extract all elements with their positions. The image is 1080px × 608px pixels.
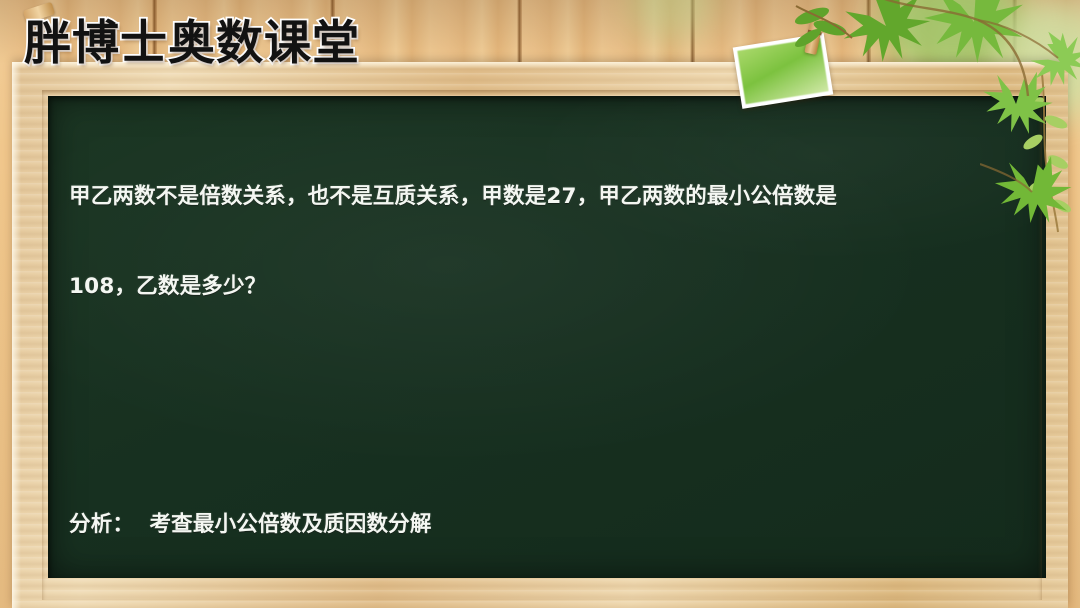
problem-line-2: 108，乙数是多少？	[69, 272, 1016, 302]
analysis-line-1: 分析： 考查最小公倍数及质因数分解	[69, 510, 1016, 540]
problem-line-1: 甲乙两数不是倍数关系，也不是互质关系，甲数是27，甲乙两数的最小公倍数是	[69, 182, 1016, 212]
text-gap	[69, 392, 1016, 420]
slide-canvas: 胖博士奥数课堂	[0, 0, 1080, 608]
frame-bevel-left	[12, 62, 21, 608]
board-text-block: 甲乙两数不是倍数关系，也不是互质关系，甲数是27，甲乙两数的最小公倍数是 108…	[69, 122, 1016, 578]
blackboard-surface: 甲乙两数不是倍数关系，也不是互质关系，甲数是27，甲乙两数的最小公倍数是 108…	[48, 96, 1046, 578]
blackboard-frame: 甲乙两数不是倍数关系，也不是互质关系，甲数是27，甲乙两数的最小公倍数是 108…	[12, 62, 1068, 608]
page-title: 胖博士奥数课堂	[24, 4, 360, 73]
